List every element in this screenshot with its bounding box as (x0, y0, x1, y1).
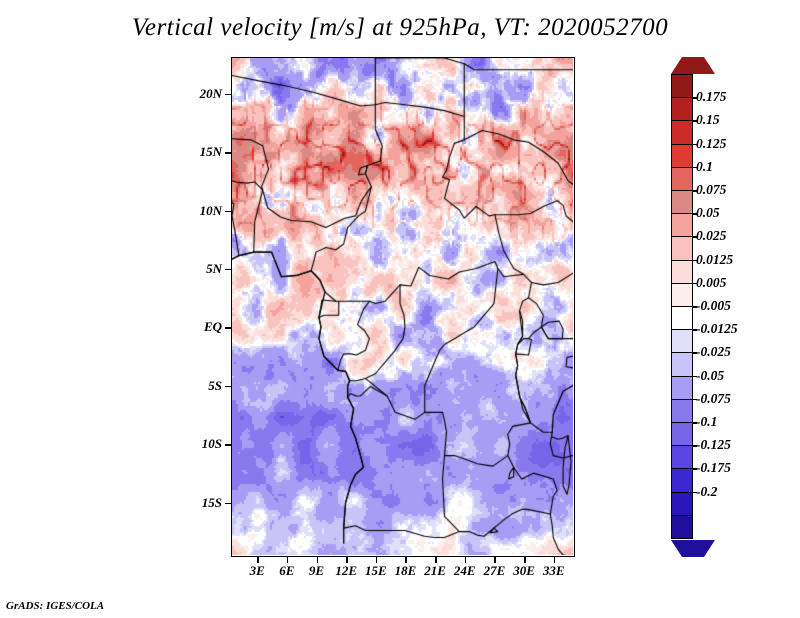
x-tick-label-9E: 9E (309, 563, 324, 579)
x-tick-mark (376, 557, 378, 563)
x-tick-label-24E: 24E (454, 563, 476, 579)
colorbar-label-11: -0.025 (696, 344, 731, 360)
colorbar-band-7[interactable] (671, 236, 693, 261)
y-tick-mark (225, 152, 231, 154)
y-tick-mark (225, 94, 231, 96)
x-tick-label-27E: 27E (484, 563, 506, 579)
colorbar-tick (693, 144, 697, 146)
x-tick-label-12E: 12E (335, 563, 357, 579)
colorbar-tick (693, 260, 697, 262)
colorbar-label-15: -0.125 (696, 437, 731, 453)
vertical-velocity-heatmap (232, 58, 573, 555)
colorbar-tick (693, 352, 697, 354)
y-tick-label-EQ: EQ (204, 319, 222, 335)
colorbar-label-1: 0.15 (696, 112, 720, 128)
colorbar-band-17[interactable] (671, 468, 693, 493)
x-tick-mark (465, 557, 467, 563)
colorbar-under-arrow (671, 540, 715, 557)
colorbar-tick (693, 213, 697, 215)
colorbar-tick (693, 190, 697, 192)
colorbar-band-8[interactable] (671, 260, 693, 285)
colorbar-label-4: 0.075 (696, 182, 726, 198)
colorbar-tick (693, 329, 697, 331)
colorbar-label-5: 0.05 (696, 205, 720, 221)
colorbar-label-0: 0.175 (696, 89, 726, 105)
y-tick-mark (225, 386, 231, 388)
colorbar-tick (693, 492, 697, 494)
x-tick-mark (287, 557, 289, 563)
colorbar-label-13: -0.075 (696, 391, 731, 407)
y-tick-mark (225, 327, 231, 329)
x-tick-label-6E: 6E (279, 563, 294, 579)
x-tick-label-18E: 18E (395, 563, 417, 579)
page-title: Vertical velocity [m/s] at 925hPa, VT: 2… (0, 14, 800, 42)
colorbar-band-15[interactable] (671, 422, 693, 447)
colorbar-tick (693, 120, 697, 122)
colorbar-band-1[interactable] (671, 97, 693, 122)
colorbar-tick (693, 236, 697, 238)
colorbar-tick (693, 167, 697, 169)
y-tick-mark (225, 211, 231, 213)
colorbar-label-2: 0.125 (696, 136, 726, 152)
colorbar-band-4[interactable] (671, 167, 693, 192)
x-tick-mark (494, 557, 496, 563)
x-tick-label-21E: 21E (424, 563, 446, 579)
colorbar-band-19[interactable] (671, 515, 693, 540)
colorbar-label-8: 0.005 (696, 275, 726, 291)
y-tick-label-20N: 20N (200, 86, 222, 102)
colorbar-band-10[interactable] (671, 306, 693, 331)
colorbar[interactable]: 0.1750.150.1250.10.0750.050.0250.01250.0… (671, 57, 695, 553)
x-tick-mark (257, 557, 259, 563)
colorbar-band-18[interactable] (671, 492, 693, 517)
x-tick-mark (435, 557, 437, 563)
colorbar-band-12[interactable] (671, 352, 693, 377)
colorbar-band-11[interactable] (671, 329, 693, 354)
colorbar-tick (693, 422, 697, 424)
y-tick-mark (225, 269, 231, 271)
x-tick-mark (346, 557, 348, 563)
colorbar-tick (693, 283, 697, 285)
colorbar-over-arrow (671, 57, 715, 74)
colorbar-tick (693, 376, 697, 378)
x-tick-mark (554, 557, 556, 563)
x-tick-mark (524, 557, 526, 563)
colorbar-label-3: 0.1 (696, 159, 713, 175)
colorbar-label-6: 0.025 (696, 228, 726, 244)
y-tick-label-15S: 15S (202, 495, 222, 511)
colorbar-band-5[interactable] (671, 190, 693, 215)
colorbar-tick (693, 97, 697, 99)
colorbar-band-9[interactable] (671, 283, 693, 308)
colorbar-band-6[interactable] (671, 213, 693, 238)
colorbar-label-12: -0.05 (696, 368, 724, 384)
colorbar-band-2[interactable] (671, 120, 693, 145)
colorbar-label-16: -0.175 (696, 460, 731, 476)
map-plot-area[interactable] (231, 57, 575, 557)
colorbar-band-3[interactable] (671, 144, 693, 169)
x-tick-label-33E: 33E (543, 563, 565, 579)
colorbar-label-17: -0.2 (696, 484, 717, 500)
colorbar-label-9: -0.005 (696, 298, 731, 314)
x-tick-mark (317, 557, 319, 563)
colorbar-band-0[interactable] (671, 74, 693, 99)
x-tick-mark (405, 557, 407, 563)
y-tick-label-5N: 5N (206, 261, 222, 277)
colorbar-band-16[interactable] (671, 445, 693, 470)
colorbar-label-14: -0.1 (696, 414, 717, 430)
x-tick-label-30E: 30E (513, 563, 535, 579)
y-tick-label-15N: 15N (200, 144, 222, 160)
x-tick-label-3E: 3E (250, 563, 265, 579)
y-tick-label-5S: 5S (208, 378, 222, 394)
colorbar-tick (693, 445, 697, 447)
credit-label: GrADS: IGES/COLA (6, 600, 104, 612)
x-tick-label-15E: 15E (365, 563, 387, 579)
y-tick-mark (225, 444, 231, 446)
y-tick-label-10N: 10N (200, 203, 222, 219)
colorbar-band-14[interactable] (671, 399, 693, 424)
colorbar-label-10: -0.0125 (696, 321, 738, 337)
colorbar-tick (693, 399, 697, 401)
y-tick-label-10S: 10S (202, 436, 222, 452)
colorbar-tick (693, 306, 697, 308)
colorbar-tick (693, 468, 697, 470)
y-tick-mark (225, 503, 231, 505)
colorbar-label-7: 0.0125 (696, 252, 733, 268)
colorbar-band-13[interactable] (671, 376, 693, 401)
